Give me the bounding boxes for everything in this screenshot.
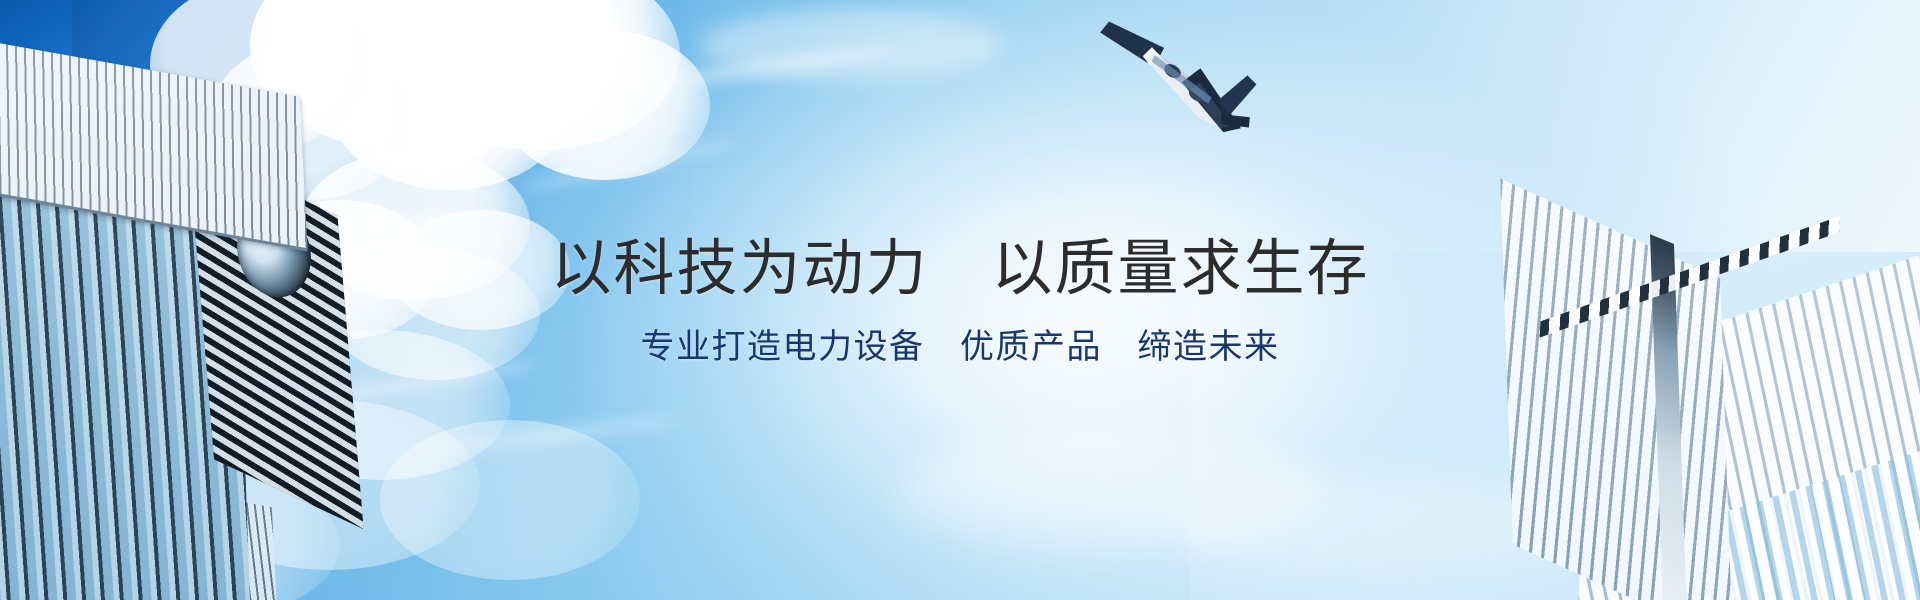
glass-skyscraper-right bbox=[1440, 170, 1920, 600]
cirrus-patch bbox=[700, 10, 1000, 80]
hero-banner: 以科技为动力 以质量求生存 专业打造电力设备 优质产品 缔造未来 bbox=[0, 0, 1920, 600]
banner-text-block: 以科技为动力 以质量求生存 专业打造电力设备 优质产品 缔造未来 bbox=[0, 236, 1920, 366]
airliner bbox=[1091, 0, 1278, 169]
banner-subtitle: 专业打造电力设备 优质产品 缔造未来 bbox=[0, 329, 1920, 366]
banner-headline: 以科技为动力 以质量求生存 bbox=[0, 236, 1920, 301]
